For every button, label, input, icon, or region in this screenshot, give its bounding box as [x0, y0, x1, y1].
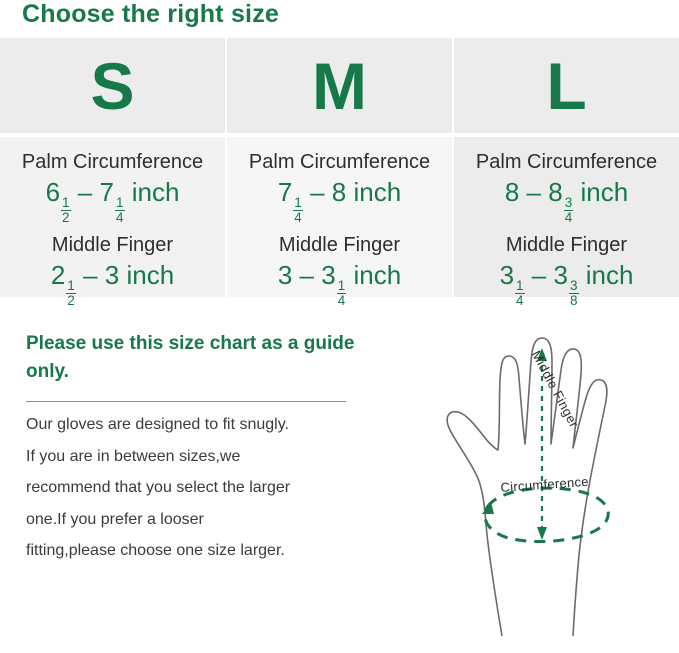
finger-m-unit: inch: [353, 260, 401, 290]
finger-m-b-frac: 14: [337, 279, 347, 307]
palm-m-dash: –: [310, 177, 324, 207]
divider: [26, 401, 346, 402]
palm-label-s: Palm Circumference: [6, 151, 219, 174]
palm-label-l: Palm Circumference: [460, 151, 673, 174]
finger-l-unit: inch: [586, 260, 634, 290]
finger-l-b-frac: 38: [569, 279, 579, 307]
palm-l-a-whole: 8: [505, 177, 519, 207]
palm-s-unit: inch: [132, 177, 180, 207]
finger-l-a-whole: 3: [500, 260, 514, 290]
finger-s-unit: inch: [126, 260, 174, 290]
size-column-m: M Palm Circumference 714 – 8 inch Middle…: [227, 38, 452, 297]
finger-label-s: Middle Finger: [6, 234, 219, 257]
finger-s-dash: –: [83, 260, 97, 290]
palm-l-b-whole: 8: [548, 177, 562, 207]
finger-s-a-frac: 12: [66, 279, 76, 307]
size-column-s: S Palm Circumference 612 – 714 inch Midd…: [0, 38, 225, 297]
size-spec-box-s: Palm Circumference 612 – 714 inch Middle…: [0, 137, 225, 297]
palm-m-a-whole: 7: [278, 177, 292, 207]
note-line: one.If you prefer a looser: [26, 511, 356, 529]
note-line: recommend that you select the larger: [26, 479, 356, 497]
palm-m-unit: inch: [353, 177, 401, 207]
size-letter-s: S: [90, 53, 134, 119]
size-spec-box-l: Palm Circumference 8 – 834 inch Middle F…: [454, 137, 679, 297]
size-columns: S Palm Circumference 612 – 714 inch Midd…: [0, 38, 679, 297]
palm-m-b-whole: 8: [332, 177, 346, 207]
finger-m-dash: –: [300, 260, 314, 290]
size-spec-box-m: Palm Circumference 714 – 8 inch Middle F…: [227, 137, 452, 297]
page-title: Choose the right size: [22, 0, 279, 29]
finger-l-a-frac: 14: [515, 279, 525, 307]
finger-label-m: Middle Finger: [233, 234, 446, 257]
size-letter-l: L: [546, 53, 586, 119]
finger-m-b-whole: 3: [321, 260, 335, 290]
palm-value-s: 612 – 714 inch: [6, 176, 219, 224]
guide-note-heading: Please use this size chart as a guide on…: [26, 330, 356, 385]
note-line: Our gloves are designed to fit snugly.: [26, 416, 356, 434]
size-letter-box-l: L: [454, 38, 679, 133]
finger-value-m: 3 – 314 inch: [233, 259, 446, 307]
palm-l-unit: inch: [580, 177, 628, 207]
finger-l-dash: –: [532, 260, 546, 290]
palm-m-a-frac: 14: [293, 196, 303, 224]
palm-value-m: 714 – 8 inch: [233, 176, 446, 224]
finger-m-a-whole: 3: [278, 260, 292, 290]
circumference-ellipse: [485, 488, 608, 541]
guide-note-body: Our gloves are designed to fit snugly. I…: [26, 416, 356, 560]
palm-label-m: Palm Circumference: [233, 151, 446, 174]
arrow-head-down: [537, 527, 547, 540]
palm-s-a-whole: 6: [46, 177, 60, 207]
palm-s-dash: –: [78, 177, 92, 207]
hand-measurement-diagram: Middle Finger Circumference: [390, 318, 660, 638]
palm-l-dash: –: [527, 177, 541, 207]
size-column-l: L Palm Circumference 8 – 834 inch Middle…: [454, 38, 679, 297]
size-chart-page: Choose the right size S Palm Circumferen…: [0, 0, 679, 653]
size-letter-m: M: [312, 53, 367, 119]
size-letter-box-m: M: [227, 38, 452, 133]
size-letter-box-s: S: [0, 38, 225, 133]
palm-s-b-frac: 14: [115, 196, 125, 224]
palm-value-l: 8 – 834 inch: [460, 176, 673, 224]
palm-l-b-frac: 34: [564, 196, 574, 224]
note-line: If you are in between sizes,we: [26, 448, 356, 466]
finger-value-s: 212 – 3 inch: [6, 259, 219, 307]
finger-label-l: Middle Finger: [460, 234, 673, 257]
finger-s-a-whole: 2: [51, 260, 65, 290]
finger-value-l: 314 – 338 inch: [460, 259, 673, 307]
finger-l-b-whole: 3: [554, 260, 568, 290]
palm-s-a-frac: 12: [61, 196, 71, 224]
finger-s-b-whole: 3: [105, 260, 119, 290]
note-line: fitting,please choose one size larger.: [26, 542, 356, 560]
palm-s-b-whole: 7: [100, 177, 114, 207]
guide-note: Please use this size chart as a guide on…: [26, 330, 356, 574]
